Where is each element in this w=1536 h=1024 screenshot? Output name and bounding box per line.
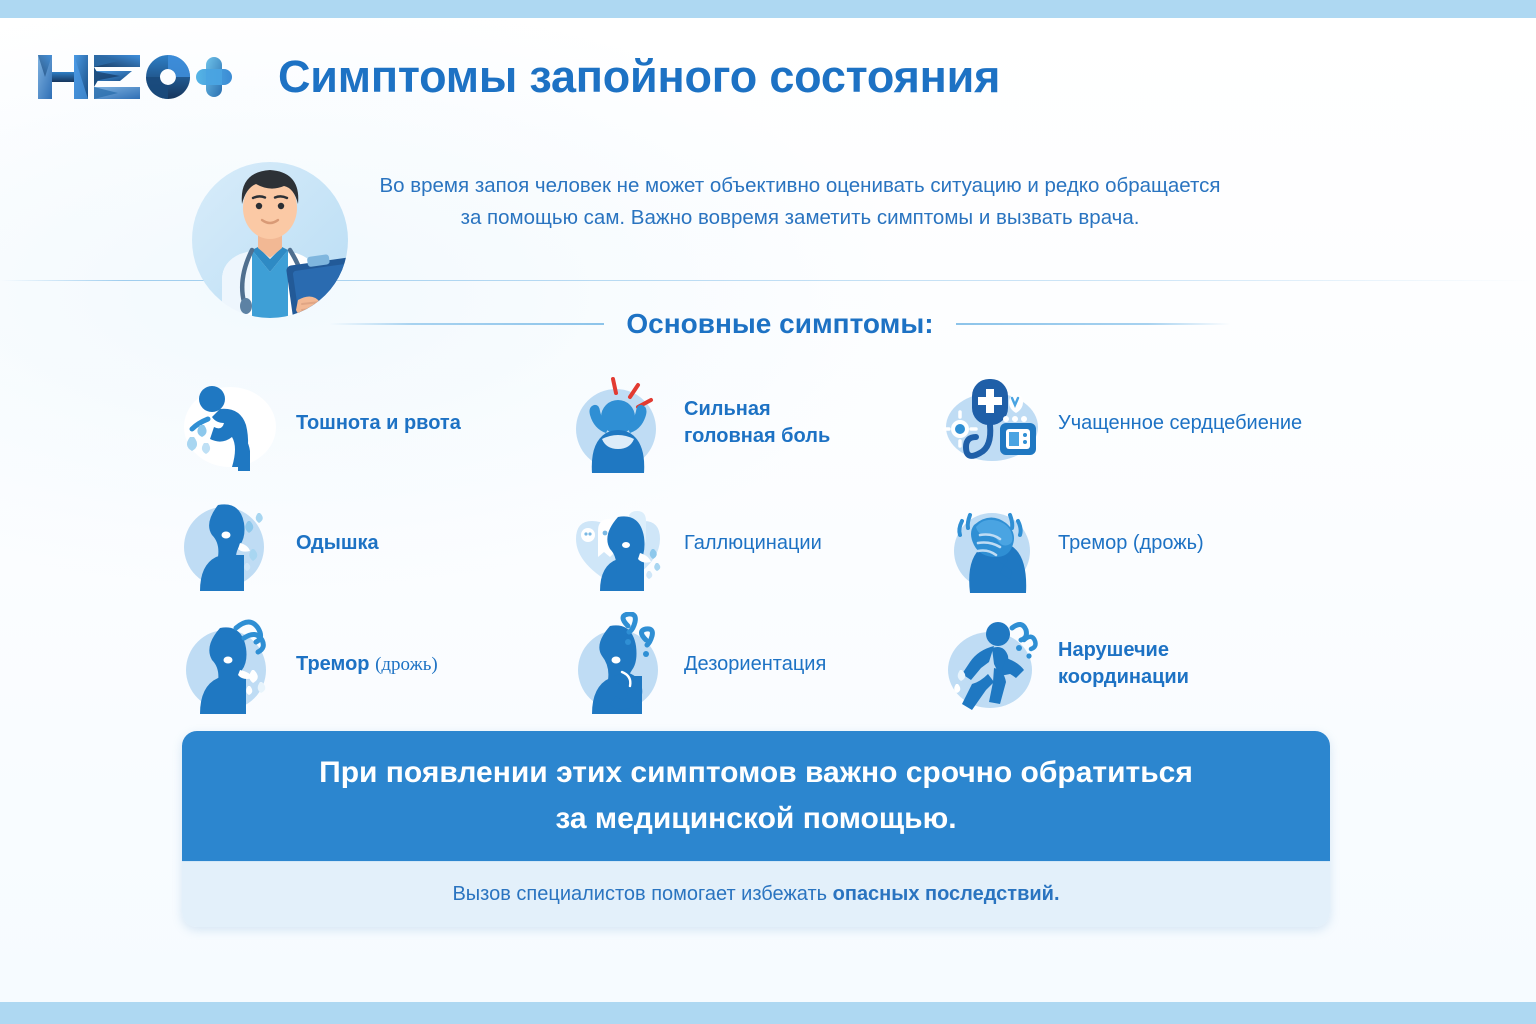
- symptom-label-line1: Нарушечие: [1058, 639, 1169, 661]
- heartbeat-icon: [940, 371, 1044, 475]
- section-heading: Основные симптомы:: [330, 308, 1230, 340]
- disorientation-icon: [566, 612, 670, 716]
- symptom-label: Нарушечие координации: [1058, 637, 1189, 691]
- symptom-label: Тошнота и рвота: [296, 410, 461, 437]
- callout-sub-text: Вызов специалистов помогает избежать опа…: [452, 883, 1059, 906]
- symptom-label: Галлюцинации: [684, 530, 822, 557]
- top-decorative-band: [0, 0, 1536, 18]
- symptom-item: Сильная головная боль: [566, 368, 928, 478]
- callout-box: При появлении этих симптомов важно срочн…: [182, 731, 1330, 927]
- callout-sub-prefix: Вызов специалистов помогает избежать: [452, 883, 832, 905]
- symptom-label: Дезориентация: [684, 651, 826, 678]
- symptom-item: Тремор (дрожь): [178, 609, 558, 719]
- heading-rule-right: [956, 323, 1230, 325]
- callout-line-1: При появлении этих симптомов важно срочн…: [319, 752, 1193, 794]
- symptom-label: Сильная головная боль: [684, 396, 830, 450]
- neo-plus-logo: [34, 47, 244, 107]
- tremor-sweat-icon: [178, 612, 282, 716]
- symptom-item: Тремор (дрожь): [940, 488, 1358, 598]
- intro-paragraph: Во время запоя человек не может объектив…: [320, 170, 1280, 234]
- intro-line-2: за помощью сам. Важно вовремя заметить с…: [320, 202, 1280, 234]
- symptom-item: Дезориентация: [566, 609, 928, 719]
- page-title: Симптомы запойного состояния: [278, 51, 1000, 103]
- symptom-grid: Тошнота и рвота Сильная головная боль: [178, 363, 1358, 725]
- header: Симптомы запойного состояния: [34, 40, 1504, 114]
- symptom-item: Галлюцинации: [566, 488, 928, 598]
- symptom-label-main: Тремор: [296, 653, 370, 675]
- callout-sub-bold: опасных последствий.: [833, 883, 1060, 905]
- symptom-label-line2: головная боль: [684, 425, 830, 447]
- symptom-item: Нарушечие координации: [940, 609, 1358, 719]
- symptom-item: Одышка: [178, 488, 558, 598]
- vomiting-icon: [178, 371, 282, 475]
- hallucination-icon: [566, 491, 670, 595]
- symptom-item: Учащенное сердцебиение: [940, 368, 1358, 478]
- symptom-label: Тремор (дрожь): [1058, 530, 1204, 557]
- section-heading-label: Основные симптомы:: [626, 308, 933, 340]
- tremor-head-icon: [940, 491, 1044, 595]
- symptom-label: Одышка: [296, 530, 379, 557]
- callout-main: При появлении этих симптомов важно срочн…: [182, 731, 1330, 861]
- symptom-label: Учащенное сердцебиение: [1058, 410, 1302, 437]
- symptom-label-note: (дрожь): [375, 654, 438, 675]
- symptom-label-line1: Сильная: [684, 398, 771, 420]
- bottom-decorative-band: [0, 1002, 1536, 1024]
- infographic-canvas: Симптомы запойного состояния: [0, 18, 1536, 1002]
- heading-rule-left: [330, 323, 604, 325]
- symptom-item: Тошнота и рвота: [178, 368, 558, 478]
- symptom-label-line2: координации: [1058, 666, 1189, 688]
- callout-subtext: Вызов специалистов помогает избежать опа…: [182, 861, 1330, 927]
- breathless-icon: [178, 491, 282, 595]
- coordination-icon: [940, 612, 1044, 716]
- intro-line-1: Во время запоя человек не может объектив…: [379, 174, 1220, 197]
- headache-icon: [566, 371, 670, 475]
- callout-line-2: за медицинской помощью.: [555, 798, 956, 840]
- symptom-label: Тремор (дрожь): [296, 651, 438, 678]
